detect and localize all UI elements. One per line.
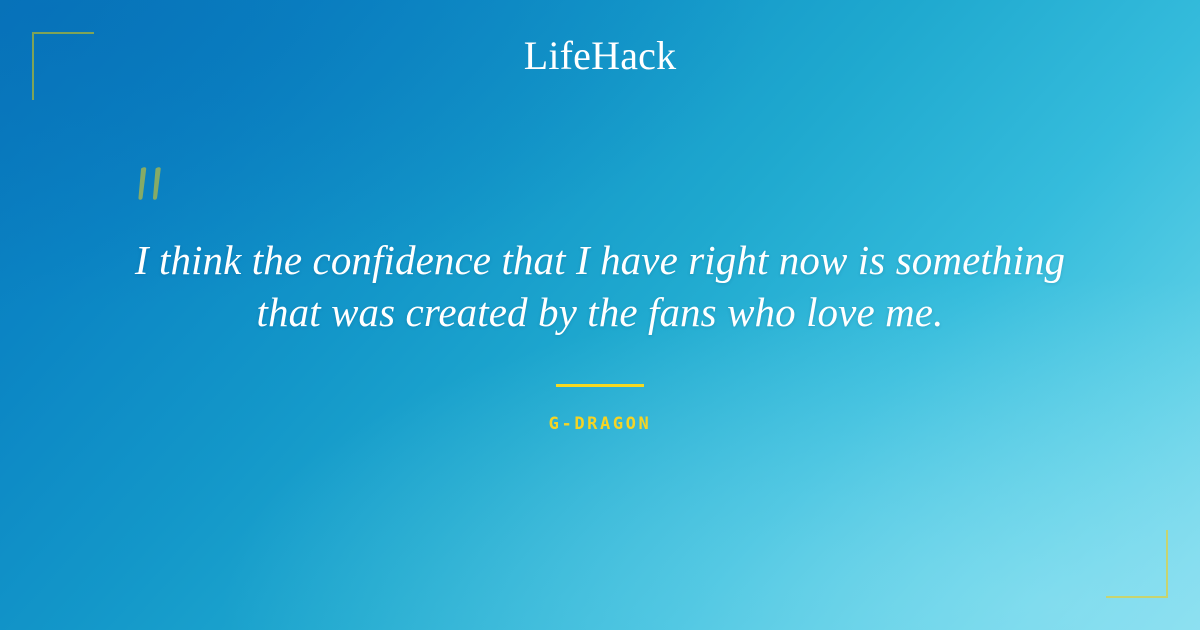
quote-block: I think the confidence that I have right… (0, 160, 1200, 338)
attribution-author: G-DRAGON (0, 414, 1200, 434)
quote-line-1: I think the confidence that I have right… (135, 237, 1065, 283)
quote-text: I think the confidence that I have right… (100, 160, 1100, 338)
quote-line-2: that was created by the fans who love me… (257, 289, 944, 335)
quote-card: LifeHack I think the confidence that I h… (0, 0, 1200, 630)
attribution-divider (556, 384, 644, 387)
quote-mark-icon (130, 164, 176, 210)
brand-logo: LifeHack (0, 36, 1200, 76)
corner-bracket-bottom-right-icon (1106, 530, 1168, 598)
